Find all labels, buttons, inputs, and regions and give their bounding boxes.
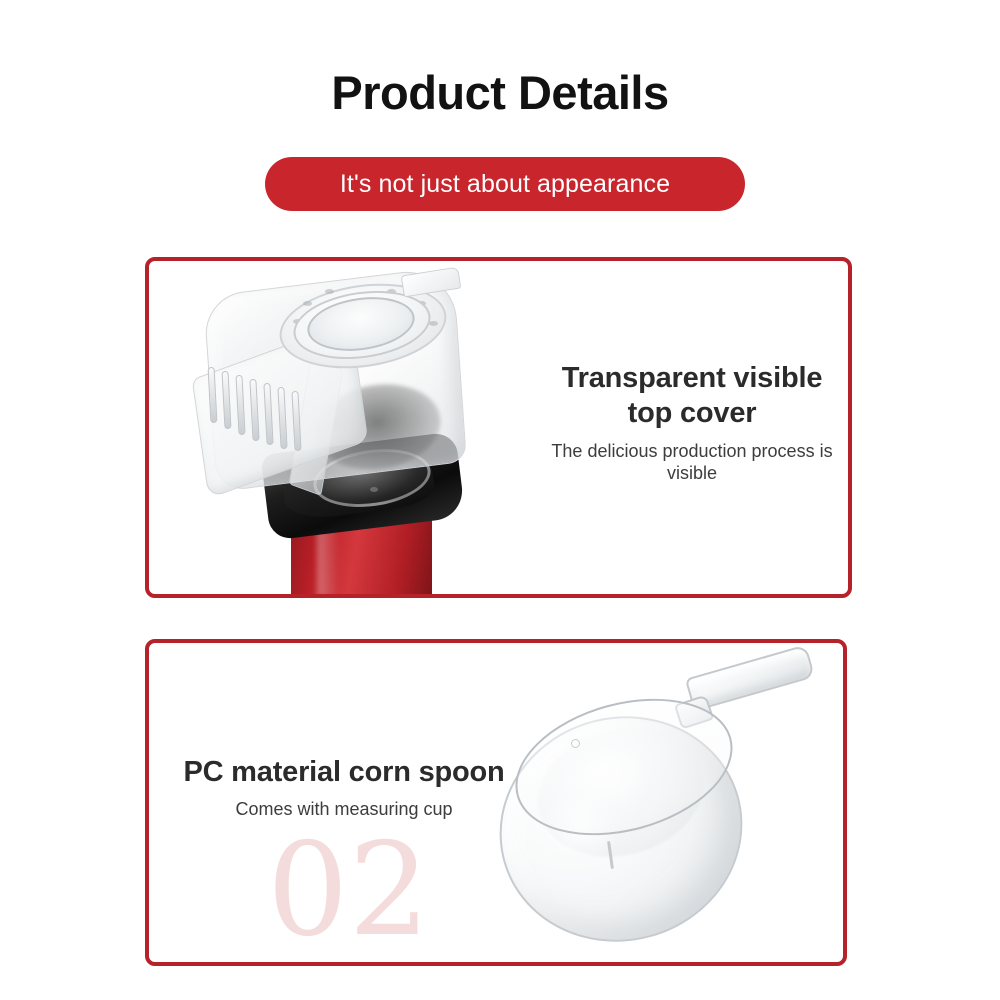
- feature-subline-02: Comes with measuring cup: [164, 798, 524, 821]
- tagline-badge-label: It's not just about appearance: [340, 170, 670, 199]
- feature-panel-01: 01 Transparent visible top cover The del…: [145, 257, 852, 598]
- lid-notch: [303, 301, 312, 306]
- corn-scoop-image: [491, 655, 847, 955]
- feature-text-02: 02 PC material corn spoon Comes with mea…: [164, 755, 524, 821]
- feature-text-01: 01 Transparent visible top cover The del…: [542, 361, 842, 485]
- popcorn-maker-image: [187, 267, 537, 598]
- feature-headline-02: PC material corn spoon: [164, 755, 524, 790]
- lid-notch: [325, 289, 334, 294]
- bowl-vent-dot: [370, 487, 378, 492]
- tagline-badge: It's not just about appearance: [265, 157, 745, 211]
- product-details-infographic: Product Details It's not just about appe…: [0, 0, 1000, 1000]
- feature-headline-01: Transparent visible top cover: [542, 361, 842, 432]
- page-title: Product Details: [0, 68, 1000, 119]
- watermark-number-02: 02: [267, 827, 430, 955]
- feature-panel-02: 02 PC material corn spoon Comes with mea…: [145, 639, 847, 966]
- lid-notch: [429, 321, 438, 326]
- scoop-pip: [571, 739, 580, 748]
- feature-subline-01: The delicious production process is visi…: [542, 440, 842, 485]
